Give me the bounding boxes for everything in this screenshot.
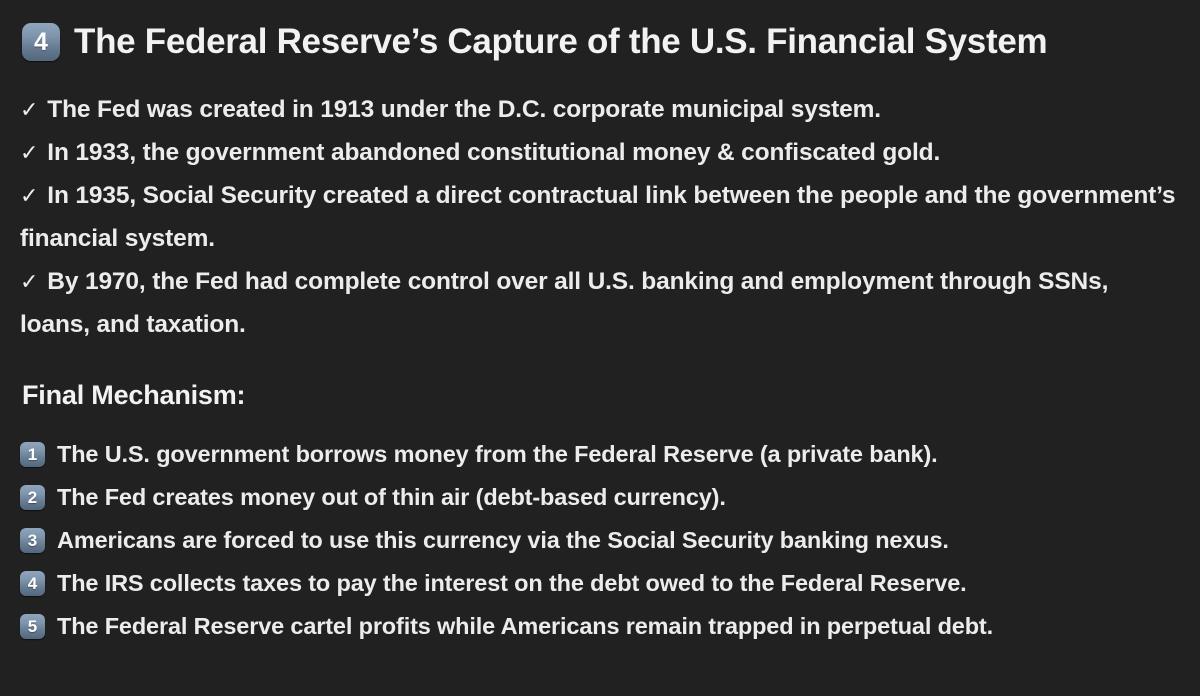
- step-number-badge-icon: 3: [20, 528, 45, 553]
- numbered-list-item-label: The Federal Reserve cartel profits while…: [57, 613, 993, 640]
- step-number-badge-icon: 2: [20, 485, 45, 510]
- section-heading: Final Mechanism:: [22, 380, 1180, 411]
- check-list: ✓The Fed was created in 1913 under the D…: [20, 88, 1180, 346]
- list-item-label: The Fed was created in 1913 under the D.…: [47, 96, 881, 123]
- list-item: ✓The Fed was created in 1913 under the D…: [20, 88, 1180, 131]
- numbered-list-item-label: The IRS collects taxes to pay the intere…: [57, 570, 967, 597]
- numbered-list-item-label: The U.S. government borrows money from t…: [57, 441, 938, 468]
- list-item: ✓In 1933, the government abandoned const…: [20, 131, 1180, 174]
- check-icon: ✓: [20, 97, 38, 122]
- section-number-badge-icon: 4: [22, 23, 60, 61]
- numbered-list: 1 The U.S. government borrows money from…: [20, 433, 1180, 648]
- check-icon: ✓: [20, 140, 38, 165]
- list-item: ✓By 1970, the Fed had complete control o…: [20, 260, 1180, 346]
- numbered-list-item-label: The Fed creates money out of thin air (d…: [57, 484, 726, 511]
- numbered-list-item-label: Americans are forced to use this currenc…: [57, 527, 949, 554]
- numbered-list-item: 2 The Fed creates money out of thin air …: [20, 476, 1180, 519]
- numbered-list-item: 5 The Federal Reserve cartel profits whi…: [20, 605, 1180, 648]
- slide-container: 4 The Federal Reserve’s Capture of the U…: [0, 0, 1200, 696]
- numbered-list-item: 3 Americans are forced to use this curre…: [20, 519, 1180, 562]
- list-item: ✓In 1935, Social Security created a dire…: [20, 174, 1180, 260]
- list-item-label: In 1935, Social Security created a direc…: [20, 182, 1175, 252]
- step-number-badge-icon: 1: [20, 442, 45, 467]
- numbered-list-item: 1 The U.S. government borrows money from…: [20, 433, 1180, 476]
- check-icon: ✓: [20, 183, 38, 208]
- step-number-badge-icon: 4: [20, 571, 45, 596]
- numbered-list-item: 4 The IRS collects taxes to pay the inte…: [20, 562, 1180, 605]
- page-title-row: 4 The Federal Reserve’s Capture of the U…: [22, 22, 1180, 62]
- check-icon: ✓: [20, 269, 38, 294]
- list-item-label: In 1933, the government abandoned consti…: [47, 139, 940, 166]
- page-title: The Federal Reserve’s Capture of the U.S…: [74, 22, 1047, 62]
- step-number-badge-icon: 5: [20, 614, 45, 639]
- list-item-label: By 1970, the Fed had complete control ov…: [20, 268, 1108, 338]
